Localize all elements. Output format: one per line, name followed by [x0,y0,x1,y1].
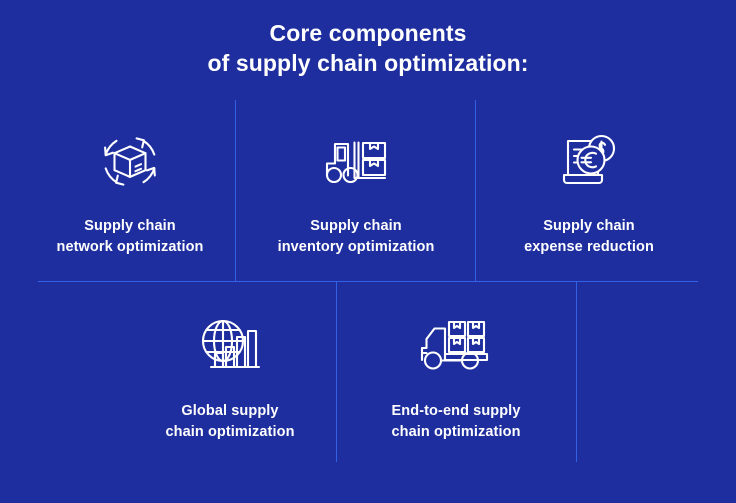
card-label-line-2: chain optimization [391,422,520,443]
divider-vertical-bottom-1 [336,281,337,462]
divider-vertical-top-1 [235,100,236,281]
component-card-label: End-to-end supply chain optimization [391,401,520,442]
receipt-dollar-euro-coins-icon [546,118,632,204]
divider-horizontal-middle [38,281,698,282]
component-card-label: Supply chain inventory optimization [278,216,435,257]
delivery-truck-boxes-icon [409,303,503,389]
component-card-label: Supply chain network optimization [57,216,204,257]
card-label-line-2: chain optimization [165,422,294,443]
card-label-line-1: Supply chain [278,216,435,237]
box-cycle-arrows-icon [87,118,173,204]
component-card-label: Supply chain expense reduction [524,216,654,257]
divider-vertical-top-2 [475,100,476,281]
card-label-line-2: inventory optimization [278,237,435,258]
globe-bar-chart-icon [187,303,273,389]
forklift-boxes-icon [313,118,399,204]
component-card-label: Global supply chain optimization [165,401,294,442]
card-label-line-2: network optimization [57,237,204,258]
component-card-network-optimization[interactable]: Supply chain network optimization [35,118,225,257]
page-title-line-2: of supply chain optimization: [0,48,736,78]
component-card-global-optimization[interactable]: Global supply chain optimization [135,303,325,442]
page-title-line-1: Core components [0,18,736,48]
card-label-line-1: End-to-end supply [391,401,520,422]
component-card-inventory-optimization[interactable]: Supply chain inventory optimization [261,118,451,257]
card-label-line-2: expense reduction [524,237,654,258]
page-title: Core components of supply chain optimiza… [0,18,736,79]
card-label-line-1: Supply chain [524,216,654,237]
card-label-line-1: Supply chain [57,216,204,237]
component-card-expense-reduction[interactable]: Supply chain expense reduction [494,118,684,257]
divider-vertical-bottom-2 [576,281,577,462]
card-label-line-1: Global supply [165,401,294,422]
component-card-end-to-end-optimization[interactable]: End-to-end supply chain optimization [361,303,551,442]
infographic-canvas: Core components of supply chain optimiza… [0,0,736,503]
